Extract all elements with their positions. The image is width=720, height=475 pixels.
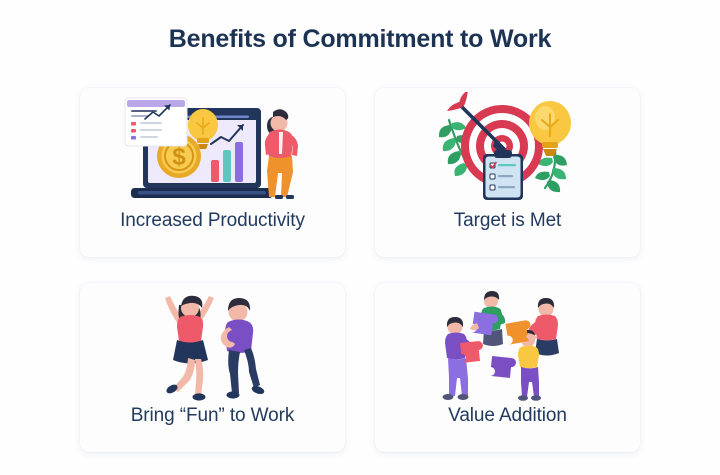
target-dartboard-illustration	[375, 88, 640, 208]
laptop-productivity-illustration: $	[80, 88, 345, 208]
dancing-woman-icon	[165, 296, 214, 401]
clipboard-checklist-icon	[483, 150, 523, 200]
benefit-card-label: Increased Productivity	[120, 210, 305, 232]
benefit-card-label: Target is Met	[454, 210, 561, 232]
page-title: Benefits of Commitment to Work	[0, 25, 720, 54]
svg-text:$: $	[172, 144, 186, 171]
laptop-productivity-svg: $	[113, 92, 313, 210]
benefit-card-label: Value Addition	[448, 405, 567, 427]
benefit-card-label: Bring “Fun” to Work	[131, 405, 295, 427]
benefits-page: Benefits of Commitment to Work	[0, 0, 720, 475]
puzzle-teamwork-illustration	[375, 283, 640, 403]
walking-man-icon	[220, 298, 264, 399]
dancing-people-illustration	[80, 283, 345, 403]
benefits-card-grid: $	[80, 88, 640, 452]
benefit-card-increased-productivity[interactable]: $	[80, 88, 345, 257]
benefit-card-target-is-met[interactable]: Target is Met	[375, 88, 640, 257]
benefit-card-value-addition[interactable]: Value Addition	[375, 283, 640, 452]
benefit-card-bring-fun-to-work[interactable]: Bring “Fun” to Work	[80, 283, 345, 452]
target-dartboard-svg	[423, 92, 593, 210]
puzzle-teamwork-svg	[433, 287, 583, 405]
dancing-people-svg	[143, 287, 283, 405]
